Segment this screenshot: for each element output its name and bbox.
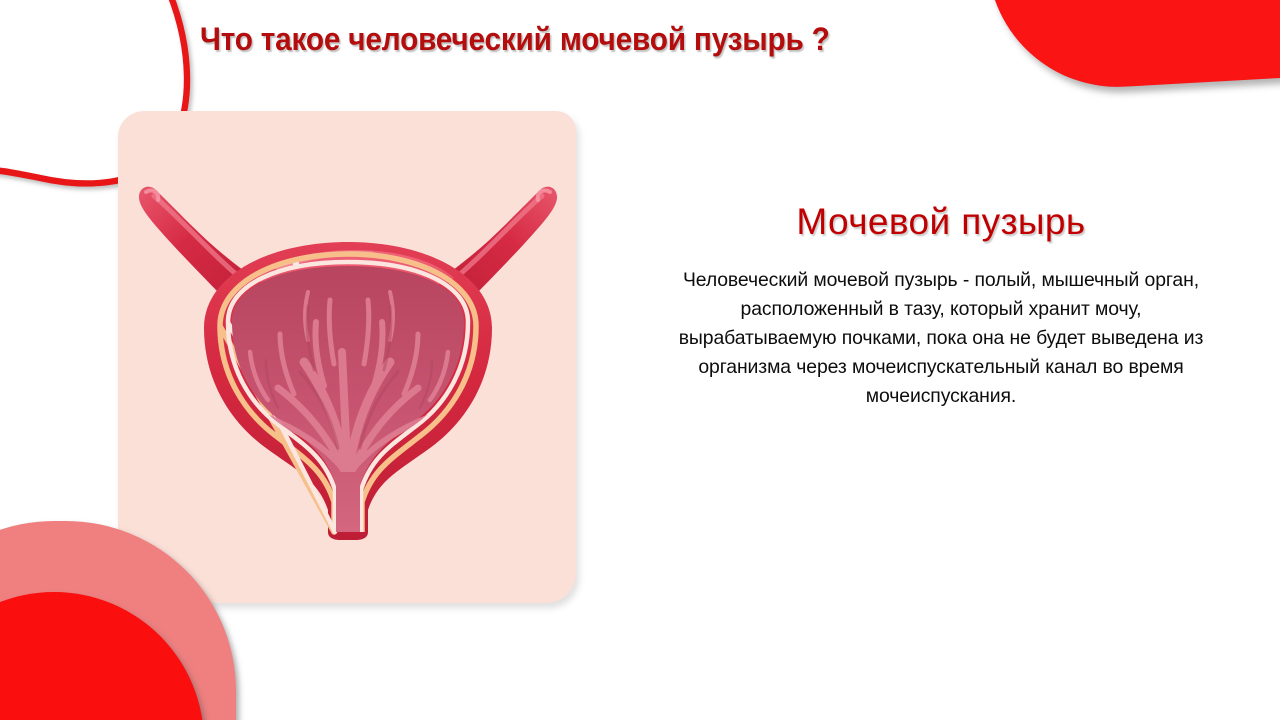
description-paragraph: Человеческий мочевой пузырь - полый, мыш…: [668, 266, 1214, 411]
bladder-anatomy-illustration: [128, 180, 568, 540]
slide-canvas: Что такое человеческий мочевой пузырь ?: [0, 0, 1280, 720]
page-title: Что такое человеческий мочевой пузырь ?: [200, 21, 935, 58]
bladder-lumen: [232, 266, 464, 532]
decor-blob-top-right: [986, 0, 1280, 94]
section-heading: Мочевой пузырь: [668, 201, 1214, 243]
